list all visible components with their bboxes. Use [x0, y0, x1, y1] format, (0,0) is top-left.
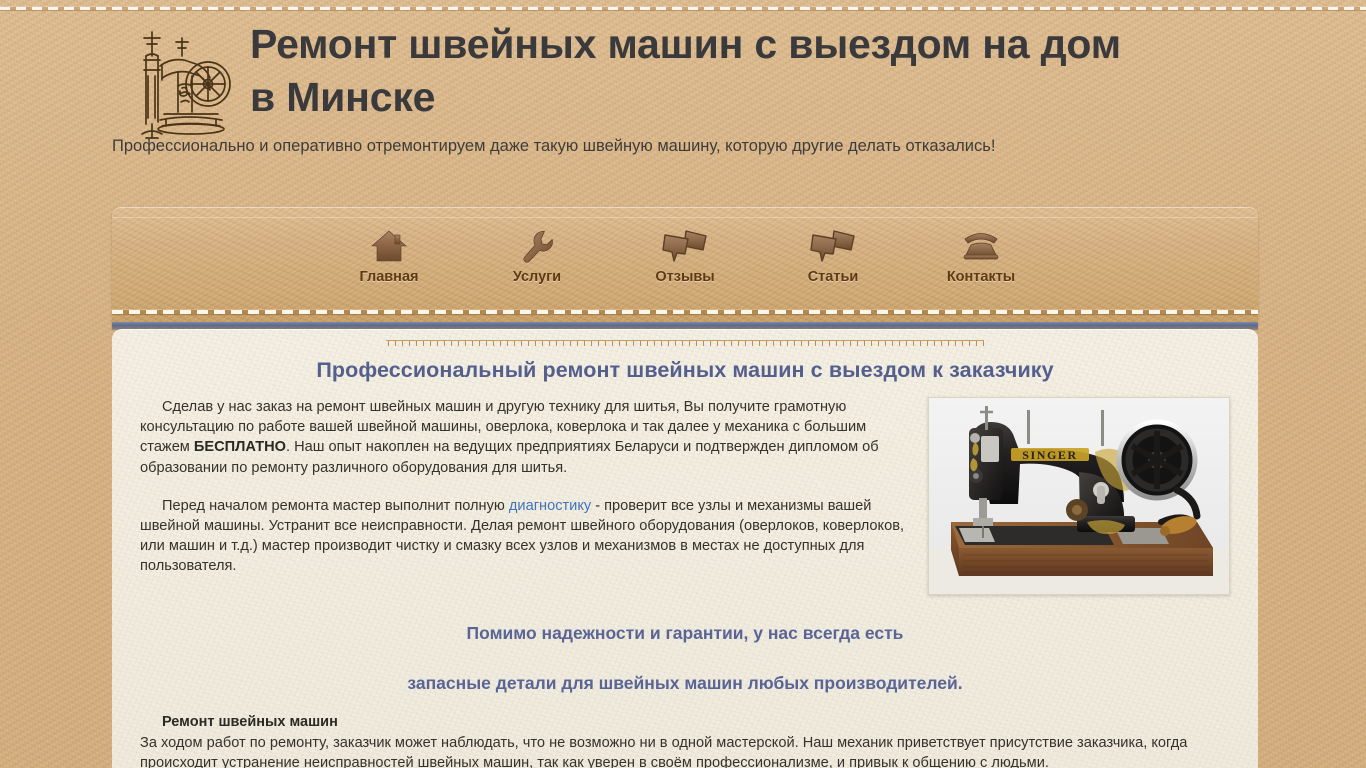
sewing-machine-line-art-icon: [122, 26, 234, 142]
site-header: Ремонт швейных машин с выездом на дом в …: [112, 18, 1258, 160]
diagnostics-link[interactable]: диагностику: [509, 498, 591, 514]
svg-text:SINGER: SINGER: [1022, 448, 1078, 462]
nav-blue-divider: [112, 322, 1258, 329]
house-icon: [330, 229, 448, 265]
site-subtitle: Профессионально и оперативно отремонтиру…: [112, 124, 1258, 160]
main-navigation: Главная Услуги: [112, 207, 1258, 322]
nav-item-home[interactable]: Главная: [330, 229, 448, 285]
nav-label-reviews: Отзывы: [626, 269, 744, 285]
nav-label-home: Главная: [330, 269, 448, 285]
nav-item-contacts[interactable]: Контакты: [922, 229, 1040, 285]
block-heading-repair: Ремонт швейных машин: [162, 714, 1230, 730]
intro-text-bold: БЕСПЛАТНО: [194, 439, 286, 455]
telephone-icon: [922, 229, 1040, 265]
zigzag-stitch-divider: [386, 340, 984, 346]
diagnostics-text-part1: Перед началом ремонта мастер выполнит по…: [162, 498, 509, 514]
nav-item-articles[interactable]: Статьи: [774, 229, 892, 285]
page-title: Ремонт швейных машин с выездом на дом в …: [112, 18, 1122, 124]
antique-singer-sewing-machine-photo: SINGER: [928, 397, 1230, 595]
nav-label-contacts: Контакты: [922, 269, 1040, 285]
promo-heading-line1: Помимо надежности и гарантии, у нас всег…: [140, 623, 1230, 644]
speech-bubbles-icon: [626, 229, 744, 265]
speech-bubbles-icon: [774, 229, 892, 265]
page-top-stitching: [0, 7, 1366, 10]
section-title: Профессиональный ремонт швейных машин с …: [140, 358, 1230, 383]
nav-item-services[interactable]: Услуги: [478, 229, 596, 285]
wrench-icon: [478, 229, 596, 265]
nav-bottom-stitching: [112, 310, 1258, 314]
nav-item-reviews[interactable]: Отзывы: [626, 229, 744, 285]
nav-list: Главная Услуги: [112, 229, 1258, 285]
promo-heading-line2: запасные детали для швейных машин любых …: [140, 673, 1230, 694]
nav-label-services: Услуги: [478, 269, 596, 285]
main-content-panel: Профессиональный ремонт швейных машин с …: [112, 329, 1258, 768]
block-text-repair: За ходом работ по ремонту, заказчик може…: [140, 733, 1230, 768]
nav-label-articles: Статьи: [774, 269, 892, 285]
nav-top-highlight: [112, 217, 1258, 218]
